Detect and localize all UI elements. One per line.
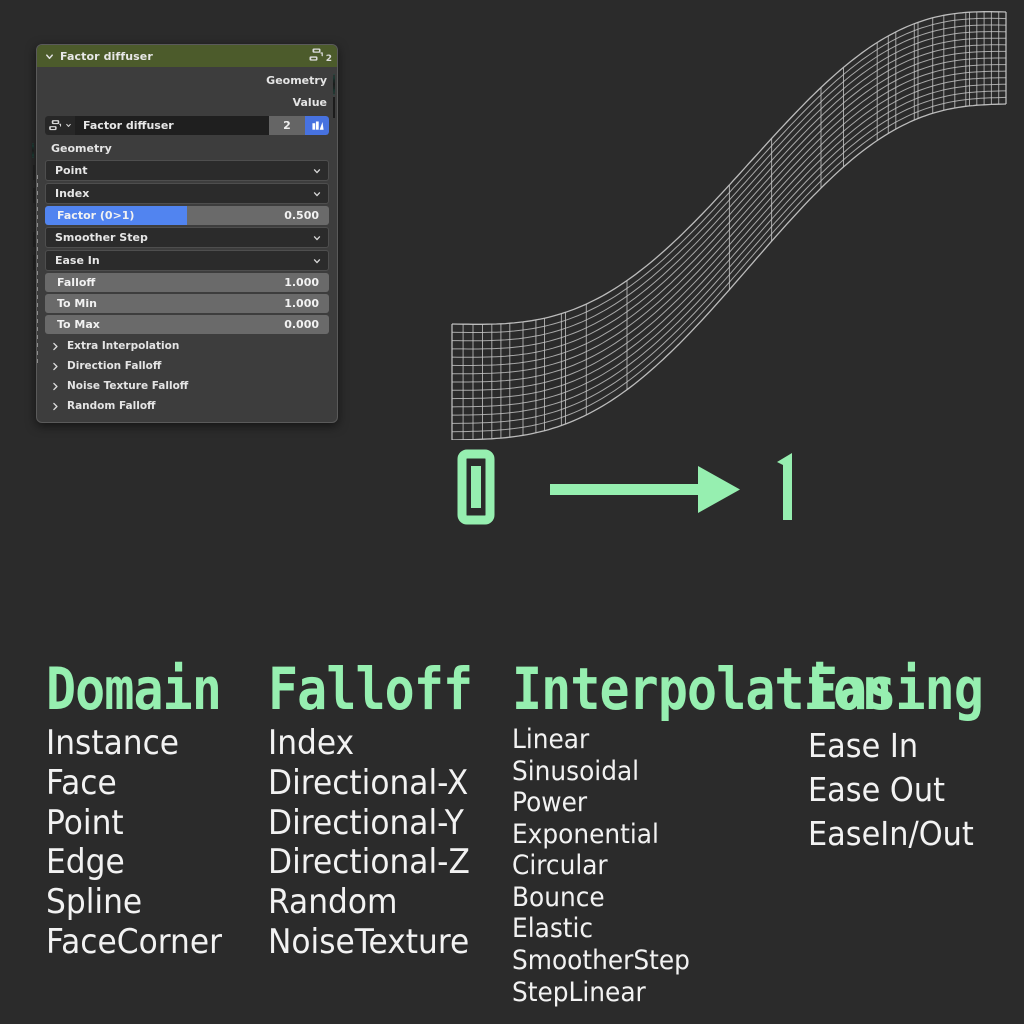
slider-label: To Max	[45, 318, 284, 331]
factor-range-graphic	[440, 440, 840, 550]
socket-dot-input[interactable]	[33, 189, 42, 198]
chevron-right-icon[interactable]	[51, 397, 60, 416]
dropdown-index[interactable]: Index	[45, 183, 329, 204]
slider-value: 1.000	[284, 297, 329, 310]
panel-extra-interpolation[interactable]: Extra Interpolation	[37, 336, 337, 356]
chevron-down-icon[interactable]	[43, 50, 55, 62]
canvas: Factor diffuser 2 Geometry	[0, 0, 1024, 1024]
duplicate-count: 2	[326, 54, 332, 64]
node-panels: Extra InterpolationDirection FalloffNois…	[37, 336, 337, 416]
output-socket-geometry[interactable]: Geometry	[37, 69, 337, 91]
dropdown-label: Index	[55, 187, 312, 200]
node-title: Factor diffuser	[60, 50, 153, 63]
column-domain: Domain InstanceFacePointEdgeSplineFaceCo…	[46, 660, 250, 963]
chevron-down-icon[interactable]	[312, 256, 322, 266]
range-end-one	[777, 453, 792, 520]
node-fields: PointIndexFactor (0>1)0.500Smoother Step…	[37, 160, 337, 334]
socket-dot-input[interactable]	[33, 233, 42, 242]
right-arrow-icon	[550, 466, 740, 513]
dropdown-label: Smoother Step	[55, 231, 312, 244]
column-easing: Easing Ease InEase OutEaseIn/Out	[808, 660, 1012, 856]
column-item: Ease In	[808, 724, 995, 768]
column-item: Random	[268, 883, 486, 923]
slider-label: To Min	[45, 297, 284, 310]
dropdown-label: Ease In	[55, 254, 312, 267]
linked-duplicate-icon[interactable]: 2	[308, 47, 332, 65]
dropdown-smoother-step[interactable]: Smoother Step	[45, 227, 329, 248]
column-item: Face	[46, 764, 233, 804]
socket-dot-input[interactable]	[33, 256, 42, 265]
slider-label: Factor (0>1)	[45, 209, 284, 222]
slider-falloff[interactable]: Falloff1.000	[45, 273, 329, 292]
column-item: EaseIn/Out	[808, 812, 995, 856]
output-label-value: Value	[293, 96, 327, 109]
chevron-right-icon[interactable]	[51, 337, 60, 356]
column-falloff: Falloff IndexDirectional-XDirectional-YD…	[268, 660, 505, 963]
deformed-grid-mesh	[440, 10, 1020, 440]
socket-dot-geometry-in[interactable]	[32, 144, 41, 153]
input-socket-geometry[interactable]: Geometry	[37, 139, 337, 158]
socket-dot-input[interactable]	[33, 166, 42, 175]
datablock-name[interactable]: Factor diffuser	[75, 116, 269, 135]
column-heading-easing: Easing	[808, 660, 983, 718]
slider-value: 0.000	[284, 318, 329, 331]
slider-label: Falloff	[45, 276, 284, 289]
panel-noise-texture-falloff[interactable]: Noise Texture Falloff	[37, 376, 337, 396]
chevron-down-icon[interactable]	[312, 166, 322, 176]
chevron-down-icon[interactable]	[312, 233, 322, 243]
column-item: Instance	[46, 724, 233, 764]
datablock-user-count[interactable]: 2	[269, 116, 305, 135]
panel-label: Direction Falloff	[67, 360, 161, 372]
column-list-domain: InstanceFacePointEdgeSplineFaceCorner	[46, 724, 250, 963]
socket-rail	[37, 175, 38, 367]
panel-label: Extra Interpolation	[67, 340, 179, 352]
dropdown-point[interactable]: Point	[45, 160, 329, 181]
chevron-down-icon	[65, 122, 72, 129]
chevron-down-icon[interactable]	[312, 189, 322, 199]
slider-factor-0-1[interactable]: Factor (0>1)0.500	[45, 206, 329, 225]
column-heading-falloff: Falloff	[268, 660, 472, 718]
output-label-geometry: Geometry	[266, 74, 327, 87]
node-group-icon[interactable]	[45, 116, 75, 135]
column-item: Ease Out	[808, 768, 995, 812]
column-item: Directional-Y	[268, 804, 486, 844]
column-item: Directional-Z	[268, 843, 486, 883]
panel-label: Noise Texture Falloff	[67, 380, 188, 392]
panel-random-falloff[interactable]: Random Falloff	[37, 396, 337, 416]
input-label-geometry: Geometry	[51, 142, 112, 155]
fake-user-icon[interactable]	[305, 116, 329, 135]
chevron-right-icon[interactable]	[51, 357, 60, 376]
node-group-datablock-row[interactable]: Factor diffuser 2	[45, 116, 329, 135]
range-start-zero	[462, 454, 490, 520]
column-item: SmootherStep	[512, 945, 918, 977]
column-list-easing: Ease InEase OutEaseIn/Out	[808, 724, 1012, 856]
column-item: Elastic	[512, 913, 918, 945]
node-body: Geometry Value	[37, 67, 337, 422]
slider-to-min[interactable]: To Min1.000	[45, 294, 329, 313]
reference-columns: Domain InstanceFacePointEdgeSplineFaceCo…	[0, 660, 1024, 1020]
dropdown-ease-in[interactable]: Ease In	[45, 250, 329, 271]
node-header[interactable]: Factor diffuser 2	[37, 45, 337, 67]
socket-dot-geometry-out[interactable]	[333, 75, 342, 84]
column-item: NoiseTexture	[268, 923, 486, 963]
column-heading-domain: Domain	[46, 660, 221, 718]
column-item: Spline	[46, 883, 233, 923]
panel-label: Random Falloff	[67, 400, 156, 412]
dropdown-label: Point	[55, 164, 312, 177]
socket-dot-value-out[interactable]	[333, 98, 342, 107]
slider-value: 0.500	[284, 209, 329, 222]
slider-to-max[interactable]: To Max0.000	[45, 315, 329, 334]
column-item: FaceCorner	[46, 923, 233, 963]
geometry-node-factor-diffuser[interactable]: Factor diffuser 2 Geometry	[36, 44, 338, 423]
output-socket-value[interactable]: Value	[37, 91, 337, 113]
column-item: Edge	[46, 843, 233, 883]
column-list-falloff: IndexDirectional-XDirectional-YDirection…	[268, 724, 505, 963]
column-item: Directional-X	[268, 764, 486, 804]
column-item: StepLinear	[512, 977, 918, 1009]
column-item: Point	[46, 804, 233, 844]
slider-value: 1.000	[284, 276, 329, 289]
column-item: Index	[268, 724, 486, 764]
chevron-right-icon[interactable]	[51, 377, 60, 396]
column-item: Bounce	[512, 882, 918, 914]
panel-direction-falloff[interactable]: Direction Falloff	[37, 356, 337, 376]
